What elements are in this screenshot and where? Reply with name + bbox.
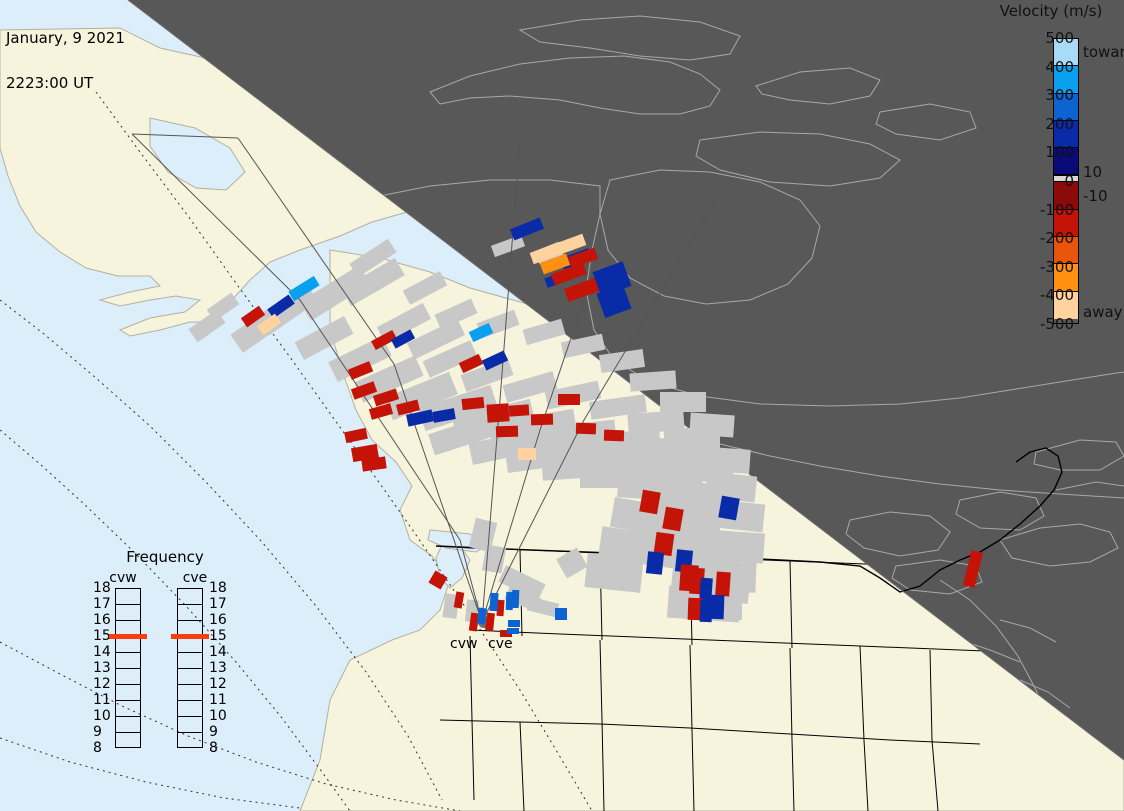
frequency-tick-cve-16: 16 [209,612,227,628]
velocity-cell [555,608,567,620]
colorbar-neg-threshold-label: -10 [1083,187,1108,205]
frequency-segment [116,653,140,669]
colorbar-tick--200: -200 [1014,229,1074,247]
velocity-cell [486,403,509,422]
frequency-segment [178,733,202,749]
frequency-segment [178,637,202,653]
frequency-segment [116,605,140,621]
velocity-cell [718,496,740,521]
velocity-cell [576,423,596,435]
velocity-cell [508,620,520,627]
frequency-segment [116,685,140,701]
frequency-tick-cve-15: 15 [209,628,227,644]
velocity-cell [461,397,484,410]
colorbar-toward-label: toward [1083,43,1124,61]
colorbar-tick-200: 200 [1014,115,1074,133]
timestamp: January, 9 2021 2223:00 UT [6,1,125,121]
colorbar-tick--400: -400 [1014,286,1074,304]
velocity-cell [489,593,498,612]
frequency-marker-cvw [109,634,147,639]
frequency-segment [116,701,140,717]
frequency-tick-cve-13: 13 [209,660,227,676]
frequency-segment [178,701,202,717]
velocity-cell [496,426,518,438]
colorbar-tick--500: -500 [1014,315,1074,333]
frequency-legend: Frequency cvw cve 1817161514131211109818… [95,548,235,778]
colorbar-tick-400: 400 [1014,58,1074,76]
velocity-cell [531,414,553,426]
frequency-segment [116,717,140,733]
frequency-tick-cve-12: 12 [209,676,227,692]
frequency-segment [178,589,202,605]
colorbar-tick-100: 100 [1014,143,1074,161]
frequency-segment [178,669,202,685]
velocity-cell [715,572,731,597]
frequency-tick-cve-8: 8 [209,740,218,756]
colorbar-tick-500: 500 [1014,29,1074,47]
frequency-segment [178,605,202,621]
colorbar-tick-0: 0 [1014,172,1074,190]
site-label-cve: cve [488,636,513,652]
frequency-tick-cvw-10: 10 [93,708,111,724]
velocity-cell [509,404,530,416]
frequency-segment [116,589,140,605]
frequency-tick-cvw-8: 8 [93,740,102,756]
velocity-cell [646,551,664,575]
colorbar-pos-threshold-label: 10 [1083,163,1102,181]
velocity-cell [662,507,684,532]
frequency-tick-cve-18: 18 [209,580,227,596]
frequency-tick-cve-14: 14 [209,644,227,660]
frequency-tick-cve-10: 10 [209,708,227,724]
frequency-segment [178,685,202,701]
frequency-tick-cvw-9: 9 [93,724,102,740]
velocity-cell [710,595,725,619]
timestamp-time: 2223:00 UT [6,76,125,91]
frequency-tick-cvw-14: 14 [93,644,111,660]
fan-plot-canvas: January, 9 2021 2223:00 UT Velocity (m/s… [0,0,1124,811]
frequency-segment [116,669,140,685]
velocity-cell [558,394,580,405]
colorbar-tick-300: 300 [1014,86,1074,104]
frequency-tick-cvw-16: 16 [93,612,111,628]
colorbar-away-label: away [1083,303,1123,321]
frequency-tick-cve-11: 11 [209,692,227,708]
velocity-cell [507,628,519,634]
frequency-tick-cve-17: 17 [209,596,227,612]
frequency-tick-cvw-17: 17 [93,596,111,612]
frequency-title: Frequency [95,548,235,566]
velocity-cell [518,448,536,460]
frequency-segment [178,717,202,733]
frequency-tick-cvw-18: 18 [93,580,111,596]
site-label-cvw: cvw [450,636,477,652]
velocity-cell [604,430,624,442]
frequency-segment [116,637,140,653]
frequency-tick-cvw-13: 13 [93,660,111,676]
colorbar-tick--100: -100 [1014,201,1074,219]
velocity-cell [639,490,661,515]
frequency-marker-cve [171,634,209,639]
frequency-segment [178,653,202,669]
velocity-cell [512,590,520,608]
colorbar-title: Velocity (m/s) [980,2,1122,20]
frequency-tick-cve-9: 9 [209,724,218,740]
colorbar-tick--300: -300 [1014,258,1074,276]
velocity-colorbar: Velocity (m/s) 5004003002001000-100-200-… [975,0,1124,340]
timestamp-date: January, 9 2021 [6,31,125,46]
frequency-tick-cvw-12: 12 [93,676,111,692]
frequency-segment [116,733,140,749]
frequency-bar-cvw [115,588,141,748]
frequency-bar-cve [177,588,203,748]
frequency-tick-cvw-11: 11 [93,692,111,708]
